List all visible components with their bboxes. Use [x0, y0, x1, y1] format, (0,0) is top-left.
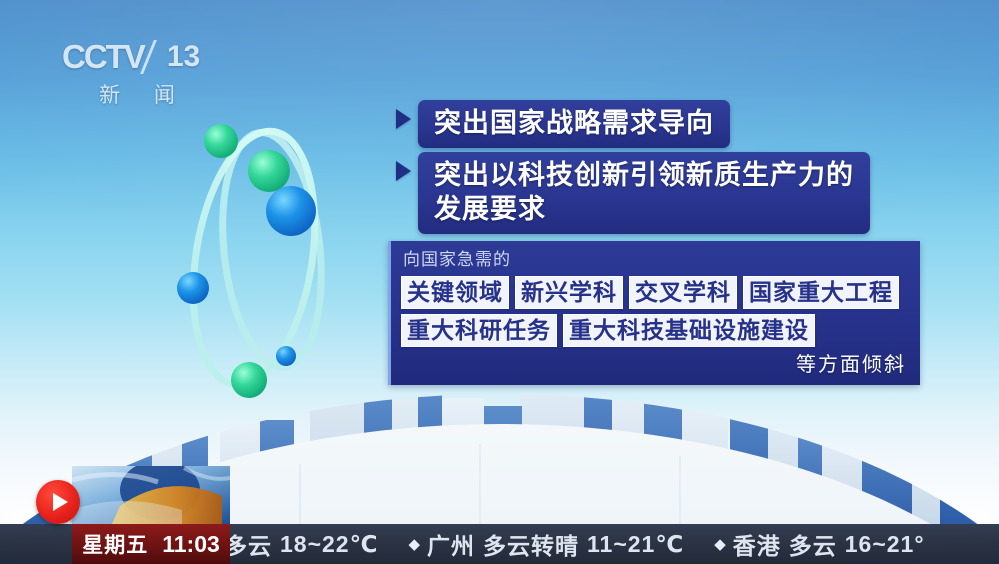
weather-temperature: 18~22℃: [280, 531, 378, 558]
weather-item-1: ◆ 广州 多云转晴 11~21℃: [408, 527, 684, 561]
bullet-line: 发展要求: [434, 192, 854, 226]
bullet-line: 突出以科技创新引领新质生产力的: [434, 158, 854, 192]
weekday-label: 星期五: [82, 529, 148, 559]
weather-item-0: 多云 18~22℃: [224, 527, 378, 561]
triangle-bullet-icon: [396, 161, 411, 181]
weather-temperature: 11~21℃: [587, 531, 684, 558]
bullet-panel-1: 突出国家战略需求导向: [418, 100, 730, 148]
cctv-logo-icon: CCTV 13 新 闻: [62, 36, 222, 106]
bullet-line: 突出国家战略需求导向: [434, 106, 714, 140]
weather-condition: 多云: [789, 527, 837, 561]
broadcast-screenshot: CCTV 13 新 闻 突出国家战略需求导向 突出以科技创新引领新质生产力的 发…: [0, 0, 999, 564]
weather-ticker: 多云 18~22℃ ◆ 广州 多云转晴 11~21℃ ◆ 香港 多云 16~21…: [230, 524, 999, 564]
keyword-chip: 重大科研任务: [401, 314, 557, 347]
clock-time: 11:03: [162, 531, 220, 558]
weather-condition: 多云转晴: [483, 527, 579, 561]
keyword-row-1: 关键领域 新兴学科 交叉学科 国家重大工程: [401, 276, 910, 309]
keyword-chip: 关键领域: [401, 276, 509, 309]
play-triangle-icon: [53, 493, 68, 511]
bullet-row-2: 突出以科技创新引领新质生产力的 发展要求: [396, 152, 870, 234]
atom-orbit-icon: [168, 108, 358, 404]
weather-city: 广州: [427, 527, 475, 561]
keyword-panel-tail: 等方面倾斜: [401, 352, 906, 378]
keyword-row-2: 重大科研任务 重大科技基础设施建设: [401, 314, 910, 347]
channel-name: CCTV: [62, 38, 144, 76]
keyword-chip: 国家重大工程: [743, 276, 899, 309]
weather-condition: 多云: [224, 527, 272, 561]
triangle-bullet-icon: [396, 109, 411, 129]
keyword-chip: 重大科技基础设施建设: [563, 314, 815, 347]
diamond-icon: ◆: [408, 535, 421, 553]
keyword-chip: 新兴学科: [515, 276, 623, 309]
weather-item-2: ◆ 香港 多云 16~21°: [714, 527, 924, 561]
keyword-chip: 交叉学科: [629, 276, 737, 309]
weather-temperature: 16~21°: [845, 531, 925, 558]
channel-subtitle: 新 闻: [62, 79, 212, 109]
bullet-row-1: 突出国家战略需求导向: [396, 100, 730, 148]
datetime-badge: 星期五 11:03: [72, 524, 230, 564]
news-globe-thumbnail-icon: [72, 466, 230, 524]
keyword-panel-lead: 向国家急需的: [403, 249, 910, 271]
weather-city: 香港: [733, 527, 781, 561]
keyword-panel: 向国家急需的 关键领域 新兴学科 交叉学科 国家重大工程 重大科研任务 重大科技…: [388, 241, 920, 385]
play-icon[interactable]: [36, 480, 80, 524]
bullet-panel-2: 突出以科技创新引领新质生产力的 发展要求: [418, 152, 870, 234]
channel-number: 13: [167, 40, 200, 74]
diamond-icon: ◆: [714, 535, 727, 553]
